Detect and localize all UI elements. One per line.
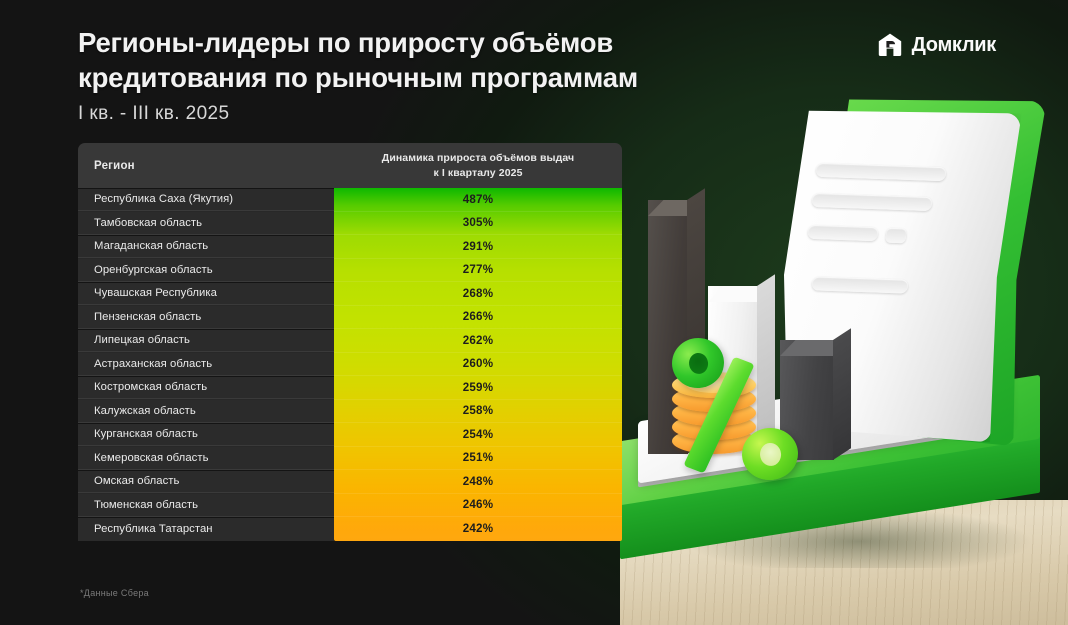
document-text-line [807,225,878,241]
table-row: Курганская область254% [78,423,622,447]
table-row: Магаданская область291% [78,235,622,259]
table-row: Кемеровская область251% [78,447,622,471]
cell-growth-value: 266% [334,310,622,323]
cell-region-name: Костромская область [78,377,334,400]
table-row: Чувашская Республика268% [78,282,622,306]
page-title: Регионы-лидеры по приросту объёмов креди… [78,26,778,95]
bar-side-face [833,328,851,460]
table-row: Республика Татарстан242% [78,517,622,541]
cell-growth-value: 277% [334,263,622,276]
cell-growth-value: 246% [334,498,622,511]
page-title-line2: кредитования по рыночным программам [78,62,638,93]
table-body: Республика Саха (Якутия)487%Тамбовская о… [78,188,622,541]
table-row: Оренбургская область277% [78,259,622,283]
cell-growth-value: 248% [334,475,622,488]
table-row: Омская область248% [78,470,622,494]
column-header-metric-line1: Динамика прироста объёмов выдач [382,152,575,164]
page-header: Регионы-лидеры по приросту объёмов креди… [78,26,778,125]
brand-logo[interactable]: Домклик [877,32,996,58]
column-header-metric-line2: к I кварталу 2025 [344,166,612,181]
table-header-row: Регион Динамика прироста объёмов выдач к… [78,143,622,188]
table-row: Астраханская область260% [78,353,622,377]
table-row: Тюменская область246% [78,494,622,518]
brand-logo-text: Домклик [912,34,996,57]
table-row: Республика Саха (Якутия)487% [78,188,622,212]
table-row: Костромская область259% [78,376,622,400]
cell-growth-value: 254% [334,428,622,441]
cell-region-name: Омская область [78,471,334,494]
table-row: Тамбовская область305% [78,212,622,236]
table-row: Калужская область258% [78,400,622,424]
cell-growth-value: 242% [334,522,622,535]
infographic-canvas: Регионы-лидеры по приросту объёмов креди… [0,0,1068,625]
cell-growth-value: 305% [334,216,622,229]
cell-growth-value: 487% [334,193,622,206]
table-row: Пензенская область266% [78,306,622,330]
cell-region-name: Калужская область [78,400,334,423]
cell-region-name: Республика Татарстан [78,518,334,542]
cell-region-name: Оренбургская область [78,259,334,282]
cell-growth-value: 259% [334,381,622,394]
column-header-metric: Динамика прироста объёмов выдач к I квар… [334,151,622,181]
cell-region-name: Магаданская область [78,236,334,259]
domclick-house-icon [877,32,903,58]
cell-growth-value: 258% [334,404,622,417]
page-title-line1: Регионы-лидеры по приросту объёмов [78,27,613,58]
cell-region-name: Липецкая область [78,330,334,353]
page-subtitle: I кв. - III кв. 2025 [78,103,778,125]
cell-growth-value: 291% [334,240,622,253]
cell-region-name: Чувашская Республика [78,283,334,306]
cell-growth-value: 251% [334,451,622,464]
cell-region-name: Республика Саха (Якутия) [78,189,334,212]
table-row: Липецкая область262% [78,329,622,353]
document-text-block [885,228,907,244]
cell-region-name: Тамбовская область [78,212,334,235]
cell-growth-value: 260% [334,357,622,370]
column-header-region: Регион [78,160,334,172]
cell-region-name: Пензенская область [78,306,334,329]
cell-region-name: Кемеровская область [78,447,334,470]
cell-region-name: Тюменская область [78,494,334,517]
regions-table: Регион Динамика прироста объёмов выдач к… [78,143,622,541]
cell-region-name: Астраханская область [78,353,334,376]
cell-growth-value: 268% [334,287,622,300]
cell-growth-value: 262% [334,334,622,347]
footnote-source: *Данные Сбера [80,588,149,598]
cell-region-name: Курганская область [78,424,334,447]
